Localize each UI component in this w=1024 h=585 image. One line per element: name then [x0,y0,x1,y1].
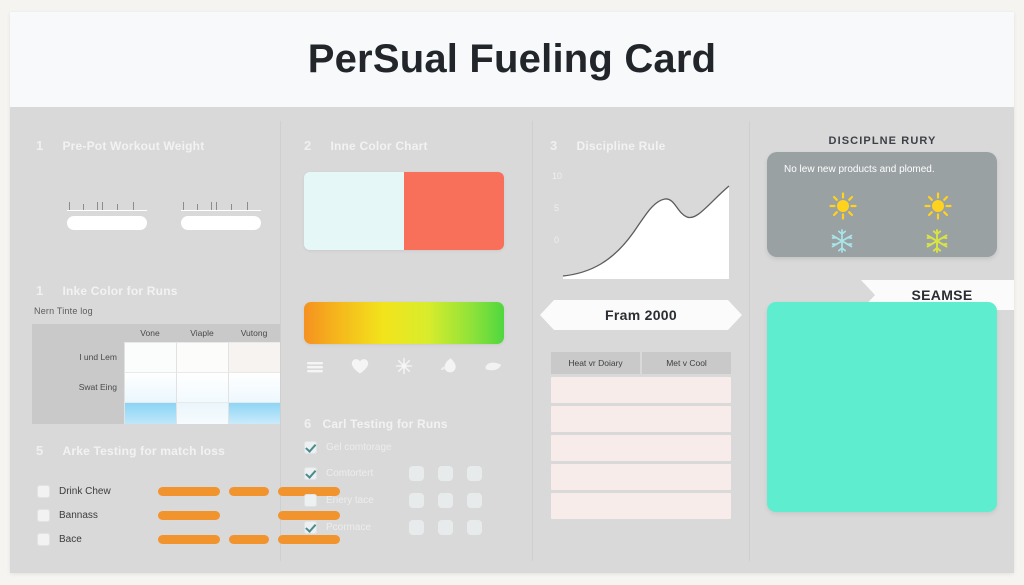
section-title: Discipline Rule [576,139,665,153]
table-col-header: Viaple [176,324,228,342]
section-subnote: Nern Tinte log [34,306,93,316]
pill [229,487,269,496]
gradient-bar[interactable] [304,302,504,344]
column-divider-2 [532,121,533,561]
sparkle-icon[interactable] [393,355,415,377]
table-cell[interactable] [124,372,176,402]
list-item[interactable]: Drink Chew [37,485,111,498]
title-bar: PerSual Fueling Card [10,12,1014,107]
column-one: 1 Pre-Pot Workout Weight [10,107,280,573]
pill [158,535,220,544]
section-inke-color-header: 1 Inke Color for Runs [36,282,178,300]
table-cell[interactable] [228,372,280,402]
table-row[interactable] [551,377,731,403]
square-row [409,466,482,481]
column-four: DISCIPLNE RURY No lew new products and p… [751,107,1014,573]
list-item[interactable]: Gel comtorage [304,441,392,454]
column-three: 3 Discipline Rule 10 5 0 Fram 2000 Heat … [534,107,749,573]
checkbox-drink-chew[interactable] [37,485,50,498]
table-corner [32,324,124,342]
section-number: 6 [304,416,318,431]
list-item-label: Bace [59,534,82,545]
snowflake-icon[interactable] [828,227,850,249]
column-divider-3 [749,121,750,561]
section-title: Pre-Pot Workout Weight [62,139,204,153]
section-pre-workout-weight-header: 1 Pre-Pot Workout Weight [36,137,204,155]
section-number: 1 [36,138,58,153]
section-number: 5 [36,443,58,458]
checkbox-gel-comtorage[interactable] [304,441,317,454]
section-title: Inke Color for Runs [62,284,177,298]
table-row[interactable] [551,435,731,461]
square-cell[interactable] [409,520,424,535]
icon-row [304,355,504,377]
table-cell[interactable] [176,372,228,402]
table-row[interactable] [551,493,731,519]
section-title: Carl Testing for Runs [322,417,447,431]
inke-color-table: Vone Viaple Vutong I und Lem Swat Eing [32,324,280,424]
table-row-label [32,402,124,424]
weight-scales-group [67,196,261,230]
column-two: 2 Inne Color Chart [282,107,532,573]
section-title: Inne Color Chart [330,139,427,153]
pill-empty [229,511,269,520]
notice-message: No lew new products and plomed. [784,164,935,175]
section-carl-testing-header: 6 Carl Testing for Runs [304,415,448,433]
heart-icon[interactable] [349,355,371,377]
weight-scale-left[interactable] [67,196,147,230]
table-col-header: Met v Cool [642,352,731,374]
discipline-rule-area-chart [561,161,733,286]
square-row [409,520,482,535]
checkbox-pcormace[interactable] [304,521,317,534]
color-swatch-pair[interactable] [304,172,504,250]
checkbox-bannass[interactable] [37,509,50,522]
list-icon[interactable] [304,355,326,377]
table-row-label: Swat Eing [32,372,124,402]
list-item-label: Comtortert [326,468,373,479]
list-item[interactable]: Bannass [37,509,98,522]
table-col-header: Vone [124,324,176,342]
fram-ribbon: Fram 2000 [540,300,742,330]
square-cell[interactable] [409,466,424,481]
checkbox-comtortert[interactable] [304,467,317,480]
ruler-ticks [67,196,147,211]
table-col-header: Heat vr Doiary [551,352,640,374]
checkbox-bace[interactable] [37,533,50,546]
section-discipline-rule-header: 3 Discipline Rule [550,137,665,155]
page-title: PerSual Fueling Card [308,37,717,82]
pill [158,487,220,496]
swatch-pale-cyan [304,172,404,250]
section-number: 2 [304,138,326,153]
seamse-ribbon-label: SEAMSE [912,287,973,303]
list-item[interactable]: Bace [37,533,82,546]
table-cell[interactable] [228,342,280,372]
pill [158,511,220,520]
table-row-label: I und Lem [32,342,124,372]
list-item[interactable]: Pcormace [304,521,371,534]
checkbox-enery-tace[interactable] [304,494,317,507]
teal-panel[interactable] [767,302,997,512]
square-cell[interactable] [409,493,424,508]
swatch-coral [404,172,504,250]
table-cell[interactable] [176,342,228,372]
square-cell[interactable] [467,520,482,535]
section-inne-color-chart-header: 2 Inne Color Chart [304,137,428,155]
list-item-label: Enery tace [326,495,374,506]
weight-input-left[interactable] [67,216,147,230]
weather-icon-grid [791,184,981,256]
discipline-rury-heading: DISCIPLNE RURY [751,135,1014,147]
list-item-label: Gel comtorage [326,442,392,453]
fram-ribbon-label: Fram 2000 [605,307,677,323]
leaf-icon[interactable] [482,355,504,377]
table-cell[interactable] [176,402,228,424]
list-item-label: Bannass [59,510,98,521]
square-cell[interactable] [467,466,482,481]
pill [229,535,269,544]
square-cell[interactable] [438,493,453,508]
sun-icon[interactable] [923,191,945,213]
y-axis-tick-5: 5 [554,203,559,213]
list-item-label: Pcormace [326,522,371,533]
square-cell[interactable] [438,520,453,535]
heat-table: Heat vr Doiary Met v Cool [551,352,731,522]
section-number: 1 [36,283,58,298]
table-cell[interactable] [124,402,176,424]
ruler-ticks [181,196,261,211]
square-row [409,493,482,508]
section-title: Arke Testing for match loss [62,444,225,458]
products-notice-card: No lew new products and plomed. [767,152,997,257]
table-body [551,377,731,519]
poster-card: PerSual Fueling Card 1 Pre-Pot Workout W… [10,12,1014,573]
weight-input-right[interactable] [181,216,261,230]
sun-icon[interactable] [828,191,850,213]
square-cell[interactable] [438,466,453,481]
list-item-label: Drink Chew [59,486,111,497]
square-cell[interactable] [467,493,482,508]
droplet-icon[interactable] [438,355,460,377]
section-arke-testing-header: 5 Arke Testing for match loss [36,442,225,460]
table-header-row: Heat vr Doiary Met v Cool [551,352,731,374]
content-area: 1 Pre-Pot Workout Weight [10,107,1014,573]
table-cell[interactable] [124,342,176,372]
snowflake-icon[interactable] [923,227,945,249]
y-axis-tick-0: 0 [554,235,559,245]
list-item[interactable]: Enery tace [304,494,374,507]
list-item[interactable]: Comtortert [304,467,373,480]
table-row[interactable] [551,406,731,432]
table-row[interactable] [551,464,731,490]
table-col-header: Vutong [228,324,280,342]
section-number: 3 [550,138,572,153]
table-cell[interactable] [228,402,280,424]
weight-scale-right[interactable] [181,196,261,230]
